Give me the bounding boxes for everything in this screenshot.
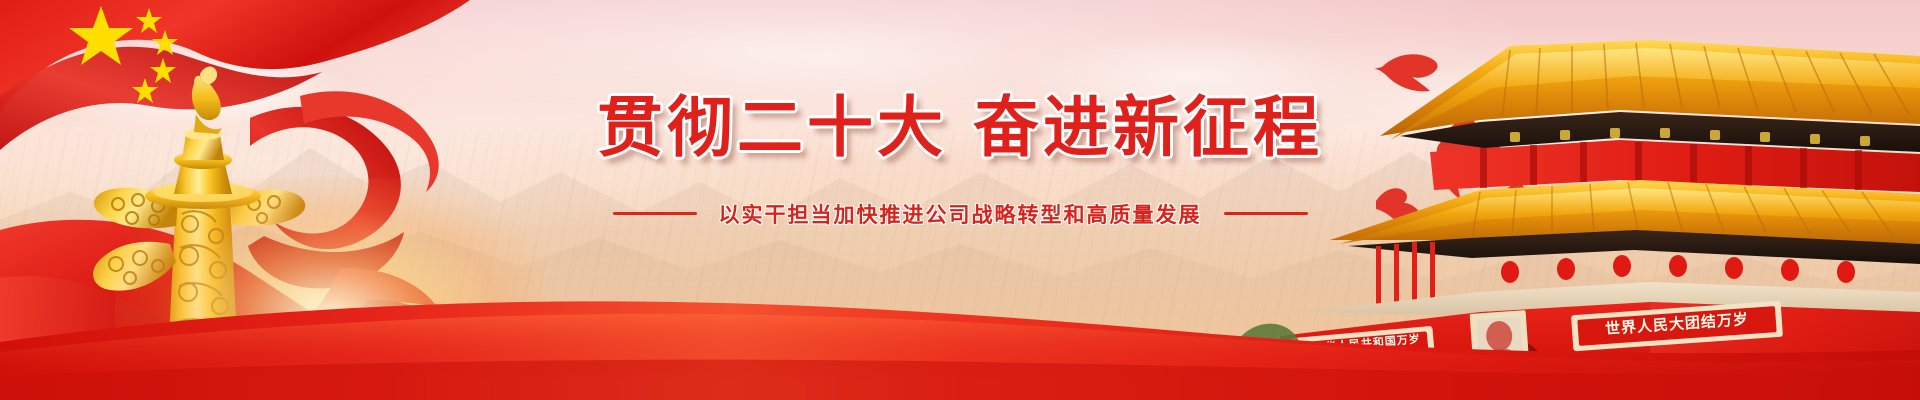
bottom-red-wave: [0, 280, 1920, 400]
subtitle-text: 以实干担当加快推进公司战略转型和高质量发展: [719, 199, 1202, 229]
rule-right: [1224, 212, 1308, 215]
flag-star-small: [136, 8, 162, 33]
rule-left: [613, 212, 697, 215]
banner-root: 中华人民共和国万岁 世界人民大团结万岁: [0, 0, 1920, 400]
title-part-1: 贯彻二十大: [597, 89, 947, 166]
title-part-2: 奋进新征程: [973, 89, 1323, 166]
subtitle-row: 以实干担当加快推进公司战略转型和高质量发展: [0, 199, 1920, 229]
headline-block: 贯彻二十大奋进新征程 以实干担当加快推进公司战略转型和高质量发展: [0, 92, 1920, 229]
page-title: 贯彻二十大奋进新征程: [0, 92, 1920, 165]
